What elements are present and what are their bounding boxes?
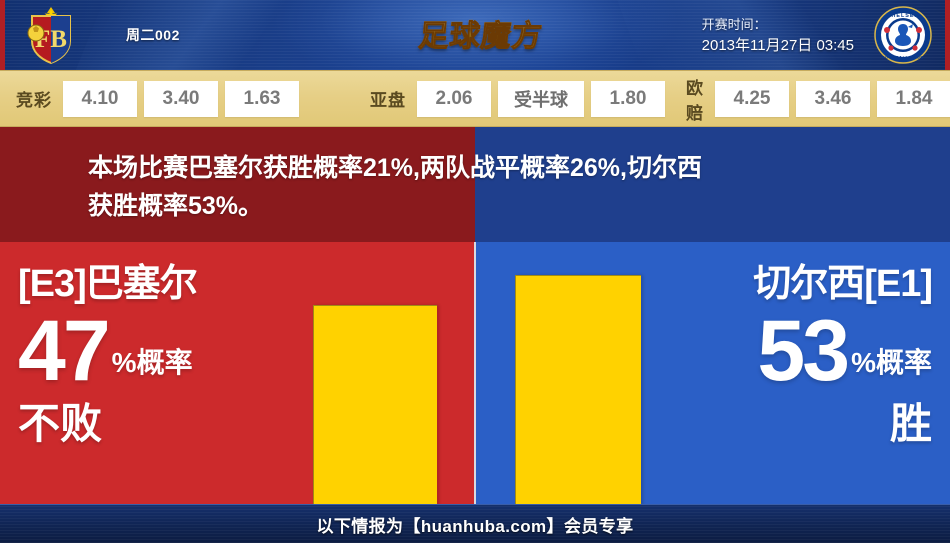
odds-bar: 竞彩 4.10 3.40 1.63 亚盘 2.06 受半球 1.80 欧赔 4.… <box>0 70 950 127</box>
away-outcome-label: 胜 <box>753 398 932 450</box>
handicap-cell-home[interactable]: 2.06 <box>417 81 491 117</box>
match-preview-screen: FB 周二002 足球魔方 开赛时间： 2013年11月27日 03:45 <box>0 0 950 552</box>
probability-summary-text: 本场比赛巴塞尔获胜概率21%,两队战平概率26%,切尔西 获胜概率53%。 <box>88 149 878 225</box>
svg-text:CHELSEA: CHELSEA <box>887 13 920 19</box>
away-probability-bar <box>515 275 641 505</box>
odds-cell-home-win[interactable]: 4.10 <box>63 81 137 117</box>
odds-group-label: 竞彩 <box>16 86 52 111</box>
brand-logo-text: 足球魔方 <box>417 11 545 55</box>
odds-cell-away-win[interactable]: 1.63 <box>225 81 299 117</box>
home-team-panel: [E3]巴塞尔 47 %概率 不败 <box>0 242 475 504</box>
member-notice-text: 以下情报为【huanhuba.com】会员专享 <box>316 512 633 537</box>
odds-cell-draw[interactable]: 3.40 <box>144 81 218 117</box>
handicap-cell-line[interactable]: 受半球 <box>498 81 584 117</box>
probability-comparison: [E3]巴塞尔 47 %概率 不败 切尔西[E1] 53 %概率 胜 <box>0 242 950 504</box>
home-percent-value: 47 <box>18 310 108 392</box>
euro-cell-draw[interactable]: 3.46 <box>796 81 870 117</box>
kickoff-time-block: 开赛时间： 2013年11月27日 03:45 <box>702 0 854 70</box>
panel-divider <box>474 242 476 504</box>
kickoff-value: 2013年11月27日 03:45 <box>702 35 854 56</box>
away-team-panel: 切尔西[E1] 53 %概率 胜 <box>475 242 950 504</box>
home-team-name: [E3]巴塞尔 <box>18 260 197 308</box>
member-notice-footer: 以下情报为【huanhuba.com】会员专享 <box>0 504 950 543</box>
header-left-edge-accent <box>0 0 5 70</box>
euro-cell-home-win[interactable]: 4.25 <box>715 81 789 117</box>
away-percent-row: 53 %概率 <box>753 310 932 392</box>
svg-text:FOOTBALL CLUB: FOOTBALL CLUB <box>882 55 924 60</box>
brand-logo: 足球魔方 <box>406 8 556 58</box>
basel-crest-icon: FB <box>20 5 82 65</box>
odds-group-label: 亚盘 <box>370 86 406 111</box>
probability-summary-banner: 本场比赛巴塞尔获胜概率21%,两队战平概率26%,切尔西 获胜概率53%。 <box>0 127 950 242</box>
odds-group-label: 欧赔 <box>686 74 704 124</box>
away-team-name: 切尔西[E1] <box>753 260 932 308</box>
match-number: 周二002 <box>126 0 180 70</box>
odds-group-european: 欧赔 4.25 3.46 1.84 <box>686 74 950 124</box>
match-header: FB 周二002 足球魔方 开赛时间： 2013年11月27日 03:45 <box>0 0 950 70</box>
kickoff-label: 开赛时间： <box>702 14 854 35</box>
home-probability-bar <box>313 305 437 505</box>
chelsea-crest-icon: CHELSEA FOOTBALL CLUB <box>874 6 932 64</box>
away-percent-value: 53 <box>757 310 847 392</box>
probability-summary-line-2: 获胜概率53%。 <box>88 187 878 225</box>
odds-group-asian-handicap: 亚盘 2.06 受半球 1.80 <box>370 81 665 117</box>
header-sheen-left <box>76 0 344 70</box>
handicap-cell-away[interactable]: 1.80 <box>591 81 665 117</box>
euro-cell-away-win[interactable]: 1.84 <box>877 81 950 117</box>
home-percent-suffix: %概率 <box>108 340 193 392</box>
home-outcome-label: 不败 <box>18 398 197 450</box>
away-team-stats: 切尔西[E1] 53 %概率 胜 <box>753 260 932 450</box>
home-team-stats: [E3]巴塞尔 47 %概率 不败 <box>18 260 197 450</box>
probability-summary-line-1: 本场比赛巴塞尔获胜概率21%,两队战平概率26%,切尔西 <box>88 149 878 187</box>
odds-group-jingcai: 竞彩 4.10 3.40 1.63 <box>16 81 299 117</box>
header-right-edge-accent <box>945 0 950 70</box>
home-percent-row: 47 %概率 <box>18 310 197 392</box>
away-percent-suffix: %概率 <box>847 340 932 392</box>
